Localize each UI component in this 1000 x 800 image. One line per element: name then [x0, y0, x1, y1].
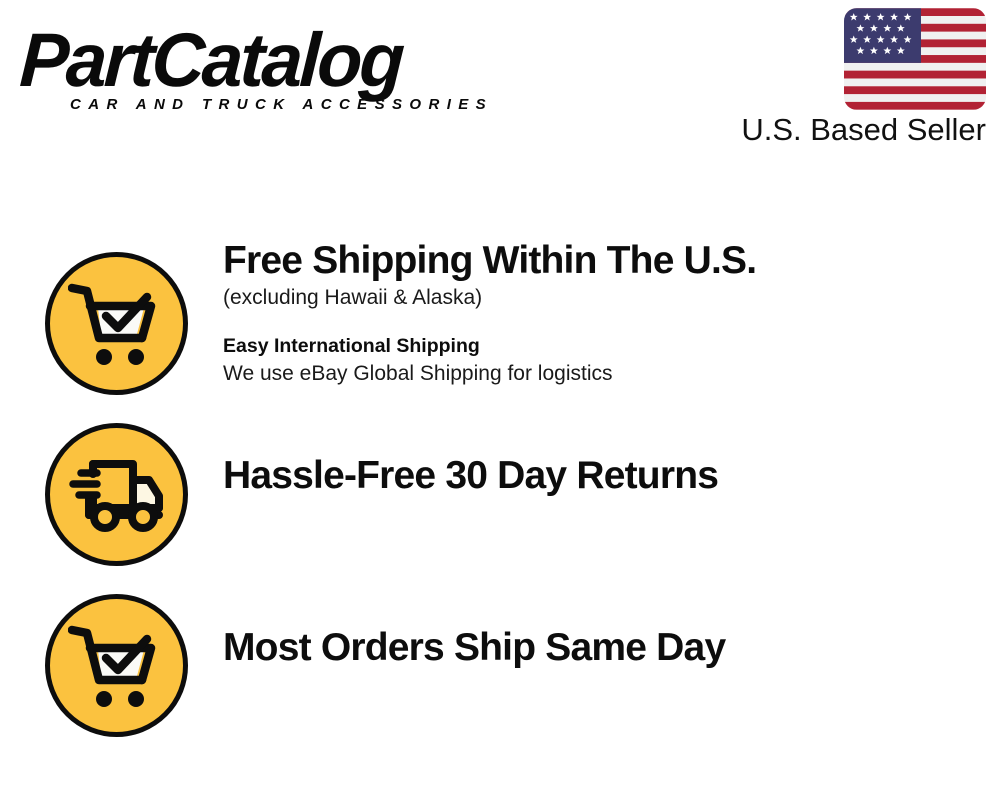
us-based-seller-label: U.S. Based Seller [714, 112, 986, 148]
feature-heading: Free Shipping Within The U.S. [223, 238, 980, 284]
delivery-truck-icon [67, 458, 167, 532]
feature-icon-badge [45, 594, 188, 737]
feature-subtext: (excluding Hawaii & Alaska) [223, 284, 980, 312]
shopping-cart-check-icon [68, 623, 166, 709]
brand-wordmark: PartCatalog [18, 22, 488, 100]
us-based-seller-badge: U.S. Based Seller [714, 8, 986, 148]
feature-icon-badge [45, 423, 188, 566]
header-bar: PartCatalog CAR AND TRUCK ACCESSORIES [0, 0, 1000, 170]
brand-logo[interactable]: PartCatalog CAR AND TRUCK ACCESSORIES [22, 22, 502, 117]
feature-text: Most Orders Ship Same Day [223, 625, 980, 671]
shopping-cart-check-icon [68, 281, 166, 367]
feature-icon-badge [45, 252, 188, 395]
feature-subtext-secondary: We use eBay Global Shipping for logistic… [223, 360, 980, 388]
feature-subtext-strong: Easy International Shipping [223, 333, 980, 360]
feature-heading: Hassle-Free 30 Day Returns [223, 453, 980, 499]
feature-heading: Most Orders Ship Same Day [223, 625, 980, 671]
brand-tagline: CAR AND TRUCK ACCESSORIES [70, 96, 493, 113]
feature-row-free-shipping: Free Shipping Within The U.S. (excluding… [0, 238, 1000, 409]
us-flag-icon [844, 8, 986, 110]
feature-row-same-day-shipping: Most Orders Ship Same Day [0, 580, 1000, 751]
features-list: Free Shipping Within The U.S. (excluding… [0, 238, 1000, 751]
feature-text: Free Shipping Within The U.S. (excluding… [223, 238, 980, 388]
feature-text: Hassle-Free 30 Day Returns [223, 453, 980, 499]
feature-row-returns: Hassle-Free 30 Day Returns [0, 409, 1000, 580]
